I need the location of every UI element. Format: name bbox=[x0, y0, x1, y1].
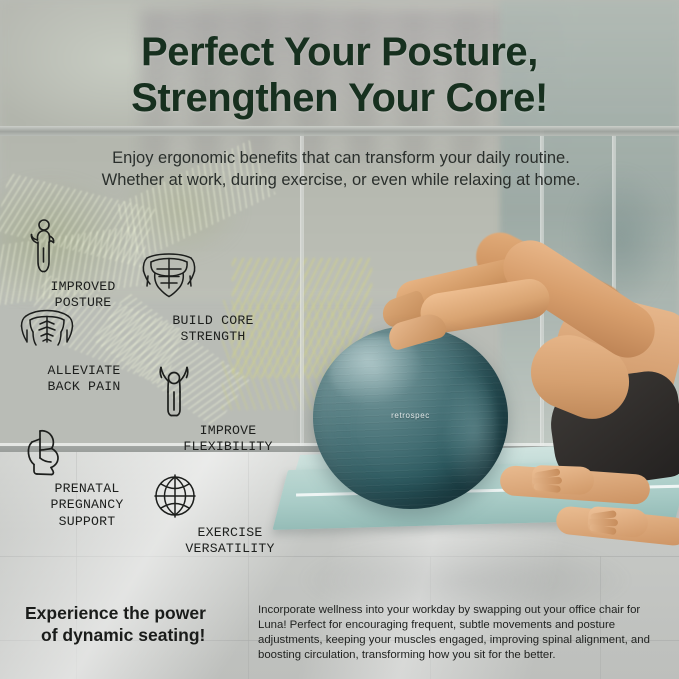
pregnant-seated-icon bbox=[20, 428, 154, 476]
benefit-exercise-versatility: EXERCISE VERSATILITY bbox=[152, 472, 308, 558]
benefit-label: EXERCISE VERSATILITY bbox=[152, 525, 308, 558]
headline-line-1: Perfect Your Posture, bbox=[0, 30, 679, 76]
product-lifestyle-poster: retrospec Perfect Your Posture, Strength… bbox=[0, 0, 679, 679]
benefit-label: BUILD CORE STRENGTH bbox=[138, 313, 288, 346]
ball-highlight bbox=[329, 336, 425, 406]
benefit-label: ALLEVIATE BACK PAIN bbox=[18, 363, 150, 396]
arms-raised-icon bbox=[152, 362, 304, 418]
abs-torso-icon bbox=[138, 252, 288, 308]
footer-heading-line-2: of dynamic seating! bbox=[25, 625, 247, 647]
finger bbox=[533, 483, 561, 493]
standing-posture-icon bbox=[22, 218, 144, 274]
exercise-ball-icon bbox=[152, 472, 308, 520]
benefit-label: IMPROVED POSTURE bbox=[22, 279, 144, 312]
person-hand-upper bbox=[532, 465, 595, 495]
person-hand-lower bbox=[587, 506, 649, 538]
footer-heading: Experience the power of dynamic seating! bbox=[25, 603, 247, 647]
benefit-label: PRENATAL PREGNANCY SUPPORT bbox=[20, 481, 154, 530]
benefit-alleviate-back-pain: ALLEVIATE BACK PAIN bbox=[18, 308, 150, 396]
benefit-prenatal-pregnancy-support: PRENATAL PREGNANCY SUPPORT bbox=[20, 428, 154, 530]
exercise-ball: retrospec bbox=[313, 326, 508, 509]
footer-heading-line-1: Experience the power bbox=[25, 603, 206, 623]
benefit-improve-flexibility: IMPROVE FLEXIBILITY bbox=[152, 362, 304, 456]
benefit-improved-posture: IMPROVED POSTURE bbox=[22, 218, 144, 312]
spine-back-icon bbox=[18, 308, 150, 358]
headline: Perfect Your Posture, Strengthen Your Co… bbox=[0, 30, 679, 121]
subheadline: Enjoy ergonomic benefits that can transf… bbox=[96, 148, 586, 192]
brand-logo: retrospec bbox=[313, 411, 508, 420]
headline-line-2: Strengthen Your Core! bbox=[0, 76, 679, 122]
benefit-label: IMPROVE FLEXIBILITY bbox=[152, 423, 304, 456]
footer-section: Experience the power of dynamic seating!… bbox=[0, 589, 679, 679]
footer-body-text: Incorporate wellness into your workday b… bbox=[258, 603, 670, 663]
balcony-railing-bar bbox=[0, 126, 679, 136]
ball-secondary-highlight bbox=[442, 372, 498, 492]
benefit-build-core-strength: BUILD CORE STRENGTH bbox=[138, 252, 288, 346]
